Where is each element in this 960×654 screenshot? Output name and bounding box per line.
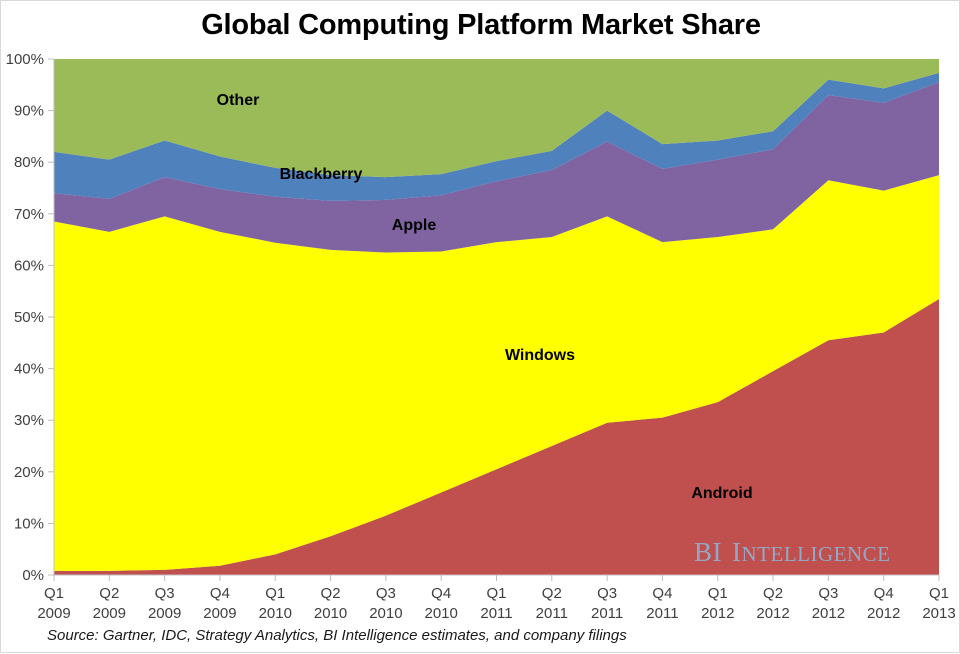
x-tick-quarter: Q2 (99, 585, 119, 602)
x-tick-quarter: Q2 (763, 585, 783, 602)
x-axis-tick-labels: Q12009Q22009Q32009Q42009Q12010Q22010Q320… (37, 585, 955, 622)
x-tick-quarter: Q3 (376, 585, 396, 602)
x-tick-quarter: Q3 (597, 585, 617, 602)
x-tick-year: 2011 (646, 605, 678, 622)
x-tick-quarter: Q4 (210, 585, 230, 602)
y-tick-label: 50% (14, 309, 44, 326)
x-tick-year: 2009 (148, 605, 181, 622)
x-tick-quarter: Q1 (44, 585, 64, 602)
watermark-bi: BI (694, 537, 722, 567)
y-tick-label: 30% (14, 412, 44, 429)
area-series-group (54, 59, 939, 575)
x-tick-year: 2010 (425, 605, 458, 622)
y-tick-label: 60% (14, 257, 44, 274)
x-tick-year: 2010 (259, 605, 292, 622)
y-tick-label: 80% (14, 154, 44, 171)
x-tick-year: 2012 (701, 605, 734, 622)
x-tick-quarter: Q1 (929, 585, 949, 602)
y-tick-label: 70% (14, 206, 44, 223)
x-tick-year: 2012 (812, 605, 845, 622)
x-tick-year: 2009 (93, 605, 126, 622)
x-tick-year: 2011 (480, 605, 512, 622)
x-tick-year: 2010 (369, 605, 402, 622)
y-axis-ticks: 0%10%20%30%40%50%60%70%80%90%100% (6, 51, 54, 584)
x-tick-quarter: Q3 (818, 585, 838, 602)
x-tick-year: 2009 (37, 605, 70, 622)
x-tick-quarter: Q1 (708, 585, 728, 602)
x-tick-quarter: Q4 (874, 585, 894, 602)
series-label-blackberry: Blackberry (280, 166, 363, 183)
y-tick-label: 100% (6, 51, 44, 68)
x-tick-quarter: Q3 (155, 585, 175, 602)
x-tick-quarter: Q2 (321, 585, 341, 602)
x-tick-year: 2012 (867, 605, 900, 622)
watermark-intelligence: INTELLIGENCE (732, 537, 890, 567)
x-tick-quarter: Q2 (542, 585, 562, 602)
x-tick-year: 2011 (591, 605, 623, 622)
x-tick-quarter: Q1 (265, 585, 285, 602)
series-label-windows: Windows (505, 347, 575, 364)
y-tick-label: 20% (14, 464, 44, 481)
y-tick-label: 90% (14, 103, 44, 120)
x-tick-quarter: Q4 (652, 585, 672, 602)
series-label-apple: Apple (392, 217, 437, 234)
x-tick-year: 2011 (536, 605, 568, 622)
y-tick-label: 10% (14, 515, 44, 532)
x-tick-year: 2012 (756, 605, 789, 622)
series-label-other: Other (217, 92, 260, 109)
series-label-android: Android (691, 485, 752, 502)
x-axis-ticks (54, 575, 939, 581)
x-tick-quarter: Q1 (486, 585, 506, 602)
x-tick-year: 2009 (203, 605, 236, 622)
x-tick-year: 2013 (922, 605, 955, 622)
x-tick-year: 2010 (314, 605, 347, 622)
x-tick-quarter: Q4 (431, 585, 451, 602)
stacked-area-chart: 0%10%20%30%40%50%60%70%80%90%100% Q12009… (1, 1, 960, 654)
source-note: Source: Gartner, IDC, Strategy Analytics… (47, 627, 627, 644)
y-tick-label: 0% (22, 567, 44, 584)
y-tick-label: 40% (14, 361, 44, 378)
chart-container: Global Computing Platform Market Share 0… (0, 0, 960, 653)
